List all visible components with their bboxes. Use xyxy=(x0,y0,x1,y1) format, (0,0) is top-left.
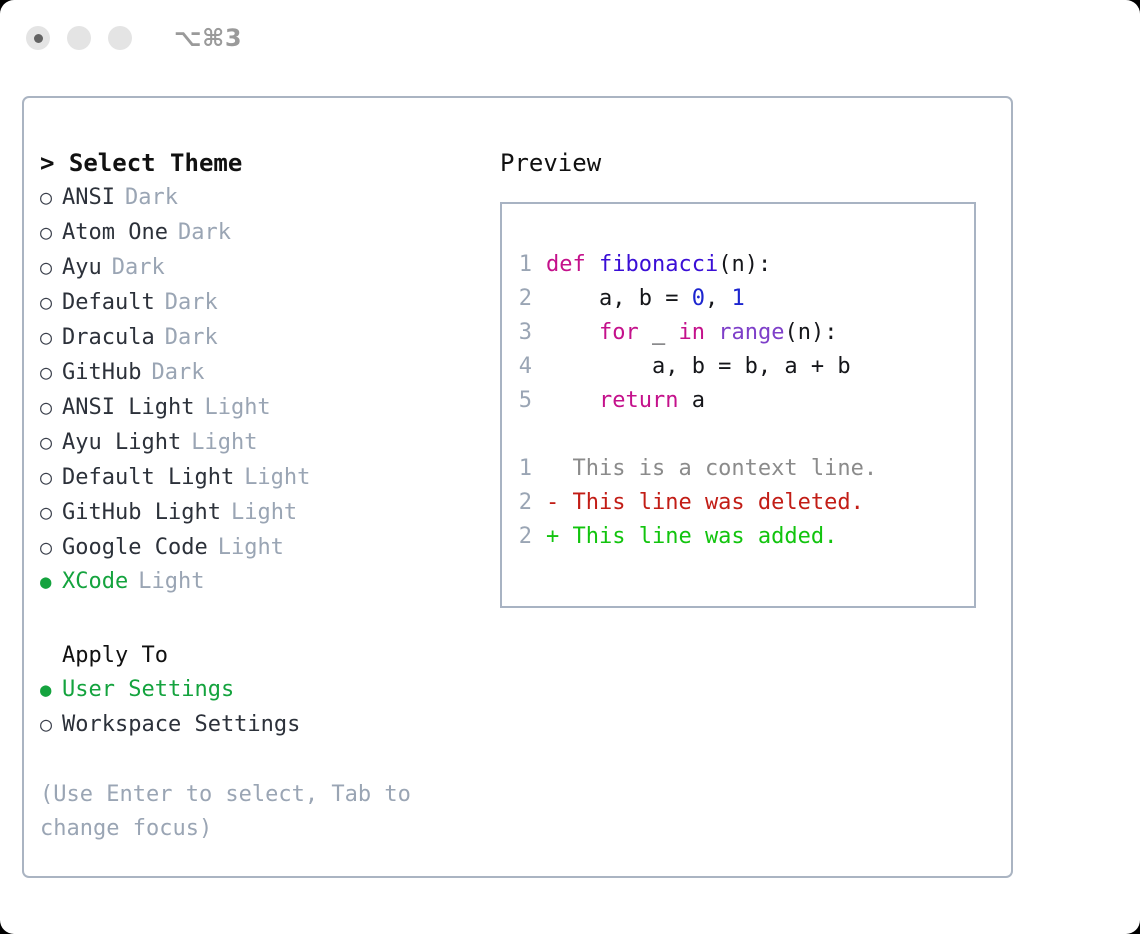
theme-option-name: GitHub xyxy=(62,356,141,390)
theme-option[interactable]: ○GitHub LightLight xyxy=(40,495,480,530)
apply-to-header: Apply To xyxy=(40,639,480,673)
line-number: 2 xyxy=(502,520,546,554)
theme-option[interactable]: ○Google CodeLight xyxy=(40,530,480,565)
code-token: 1 xyxy=(731,286,744,311)
theme-option[interactable]: ○DraculaDark xyxy=(40,320,480,355)
theme-selection-column: > Select Theme ○ANSIDark○Atom OneDark○Ay… xyxy=(40,146,480,846)
radio-unselected-icon[interactable]: ○ xyxy=(40,250,62,284)
line-number: 5 xyxy=(502,384,546,418)
line-content: - This line was deleted. xyxy=(546,486,864,520)
preview-panel: 1def fibonacci(n):2 a, b = 0, 13 for _ i… xyxy=(500,202,976,608)
code-token: fibonacci xyxy=(599,252,718,277)
select-theme-header: > Select Theme xyxy=(40,146,480,180)
theme-option[interactable]: ○Atom OneDark xyxy=(40,215,480,250)
radio-unselected-icon[interactable]: ○ xyxy=(40,180,62,214)
code-token xyxy=(546,388,599,413)
diff-line: 1 This is a context line. xyxy=(502,452,974,486)
theme-option-name: Dracula xyxy=(62,321,155,355)
preview-title: Preview xyxy=(500,146,1000,180)
radio-unselected-icon[interactable]: ○ xyxy=(40,425,62,459)
theme-option-kind: Dark xyxy=(151,356,204,390)
theme-option[interactable]: ○Ayu LightLight xyxy=(40,425,480,460)
line-number: 4 xyxy=(502,350,546,384)
keyboard-shortcut-label: ⌥⌘3 xyxy=(174,24,242,52)
code-line: 2 a, b = 0, 1 xyxy=(502,282,974,316)
radio-unselected-icon[interactable]: ○ xyxy=(40,355,62,389)
theme-option[interactable]: ○AyuDark xyxy=(40,250,480,285)
code-token xyxy=(546,320,599,345)
theme-option-kind: Light xyxy=(231,496,297,530)
radio-unselected-icon[interactable]: ○ xyxy=(40,530,62,564)
code-token: range xyxy=(718,320,784,345)
line-number: 1 xyxy=(502,452,546,486)
theme-option-name: Atom One xyxy=(62,216,168,250)
apply-to-list: ●User Settings○Workspace Settings xyxy=(40,673,480,742)
window-dot-3[interactable] xyxy=(108,26,132,50)
code-token: a, b = b, a + b xyxy=(546,354,851,379)
theme-option-kind: Dark xyxy=(165,286,218,320)
line-content: for _ in range(n): xyxy=(546,316,837,350)
line-content: a, b = 0, 1 xyxy=(546,282,745,316)
preview-column: Preview 1def fibonacci(n):2 a, b = 0, 13… xyxy=(500,146,1000,608)
radio-unselected-icon[interactable]: ○ xyxy=(40,707,62,741)
theme-option-name: Ayu xyxy=(62,251,102,285)
theme-option[interactable]: ○GitHubDark xyxy=(40,355,480,390)
code-token: (n): xyxy=(718,252,771,277)
apply-to-option[interactable]: ●User Settings xyxy=(40,673,480,707)
code-token: (n): xyxy=(784,320,837,345)
theme-option-name: GitHub Light xyxy=(62,496,221,530)
apply-to-option-name: Workspace Settings xyxy=(62,708,300,742)
theme-option[interactable]: ○DefaultDark xyxy=(40,285,480,320)
theme-option-kind: Dark xyxy=(178,216,231,250)
radio-unselected-icon[interactable]: ○ xyxy=(40,320,62,354)
theme-option[interactable]: ○Default LightLight xyxy=(40,460,480,495)
titlebar: ⌥⌘3 xyxy=(0,0,1140,76)
line-number: 1 xyxy=(502,248,546,282)
theme-option-kind: Dark xyxy=(112,251,165,285)
code-token: a, b = xyxy=(546,286,692,311)
code-token: for xyxy=(599,320,639,345)
theme-option-name: Ayu Light xyxy=(62,426,181,460)
diff-line: 2+ This line was added. xyxy=(502,520,974,554)
theme-option-name: ANSI Light xyxy=(62,391,194,425)
theme-option-name: Google Code xyxy=(62,531,208,565)
line-content: + This line was added. xyxy=(546,520,837,554)
code-token: This is a context line. xyxy=(546,456,877,481)
radio-unselected-icon[interactable]: ○ xyxy=(40,390,62,424)
line-content: return a xyxy=(546,384,705,418)
code-line: 5 return a xyxy=(502,384,974,418)
code-preview-block: 1def fibonacci(n):2 a, b = 0, 13 for _ i… xyxy=(502,248,974,418)
theme-picker-window: > Select Theme ○ANSIDark○Atom OneDark○Ay… xyxy=(22,96,1013,878)
line-number: 2 xyxy=(502,282,546,316)
theme-option-kind: Light xyxy=(138,565,204,599)
window-dot-active[interactable] xyxy=(26,26,50,50)
theme-option-kind: Light xyxy=(218,531,284,565)
radio-selected-icon[interactable]: ● xyxy=(40,673,62,707)
radio-selected-icon[interactable]: ● xyxy=(40,565,62,599)
code-token: _ xyxy=(639,320,679,345)
code-token: 0 xyxy=(692,286,705,311)
theme-option-kind: Dark xyxy=(165,321,218,355)
code-line: 3 for _ in range(n): xyxy=(502,316,974,350)
code-token: - This line was deleted. xyxy=(546,490,864,515)
line-number: 3 xyxy=(502,316,546,350)
window-controls xyxy=(26,26,132,50)
theme-option-kind: Light xyxy=(204,391,270,425)
radio-unselected-icon[interactable]: ○ xyxy=(40,285,62,319)
theme-option-name: XCode xyxy=(62,565,128,599)
line-content: This is a context line. xyxy=(546,452,877,486)
theme-option[interactable]: ○ANSI LightLight xyxy=(40,390,480,425)
theme-option-name: ANSI xyxy=(62,181,115,215)
code-token: , xyxy=(705,286,732,311)
apply-to-option[interactable]: ○Workspace Settings xyxy=(40,707,480,742)
code-token xyxy=(705,320,718,345)
code-token: + This line was added. xyxy=(546,524,837,549)
line-content: a, b = b, a + b xyxy=(546,350,851,384)
theme-option-name: Default Light xyxy=(62,461,234,495)
radio-unselected-icon[interactable]: ○ xyxy=(40,215,62,249)
diff-preview-block: 1 This is a context line.2- This line wa… xyxy=(502,452,974,554)
code-token: a xyxy=(678,388,705,413)
code-token: def xyxy=(546,252,599,277)
radio-unselected-icon[interactable]: ○ xyxy=(40,495,62,529)
theme-list: ○ANSIDark○Atom OneDark○AyuDark○DefaultDa… xyxy=(40,180,480,599)
radio-unselected-icon[interactable]: ○ xyxy=(40,460,62,494)
theme-option[interactable]: ●XCodeLight xyxy=(40,565,480,599)
app-window: ⌥⌘3 > Select Theme ○ANSIDark○Atom OneDar… xyxy=(0,0,1140,934)
line-content: def fibonacci(n): xyxy=(546,248,771,282)
window-columns: > Select Theme ○ANSIDark○Atom OneDark○Ay… xyxy=(24,98,1011,876)
window-dot-active-inner xyxy=(34,34,43,43)
window-dot-2[interactable] xyxy=(67,26,91,50)
theme-option-kind: Light xyxy=(191,426,257,460)
line-number: 2 xyxy=(502,486,546,520)
code-token: in xyxy=(678,320,705,345)
apply-to-option-name: User Settings xyxy=(62,673,234,707)
apply-to-spacer xyxy=(40,599,480,639)
diff-line: 2- This line was deleted. xyxy=(502,486,974,520)
keyboard-hint: (Use Enter to select, Tab to change focu… xyxy=(40,778,440,846)
code-diff-separator xyxy=(502,418,974,452)
theme-option[interactable]: ○ANSIDark xyxy=(40,180,480,215)
theme-option-kind: Dark xyxy=(125,181,178,215)
code-line: 1def fibonacci(n): xyxy=(502,248,974,282)
code-token: return xyxy=(599,388,678,413)
theme-option-name: Default xyxy=(62,286,155,320)
theme-option-kind: Light xyxy=(244,461,310,495)
code-line: 4 a, b = b, a + b xyxy=(502,350,974,384)
